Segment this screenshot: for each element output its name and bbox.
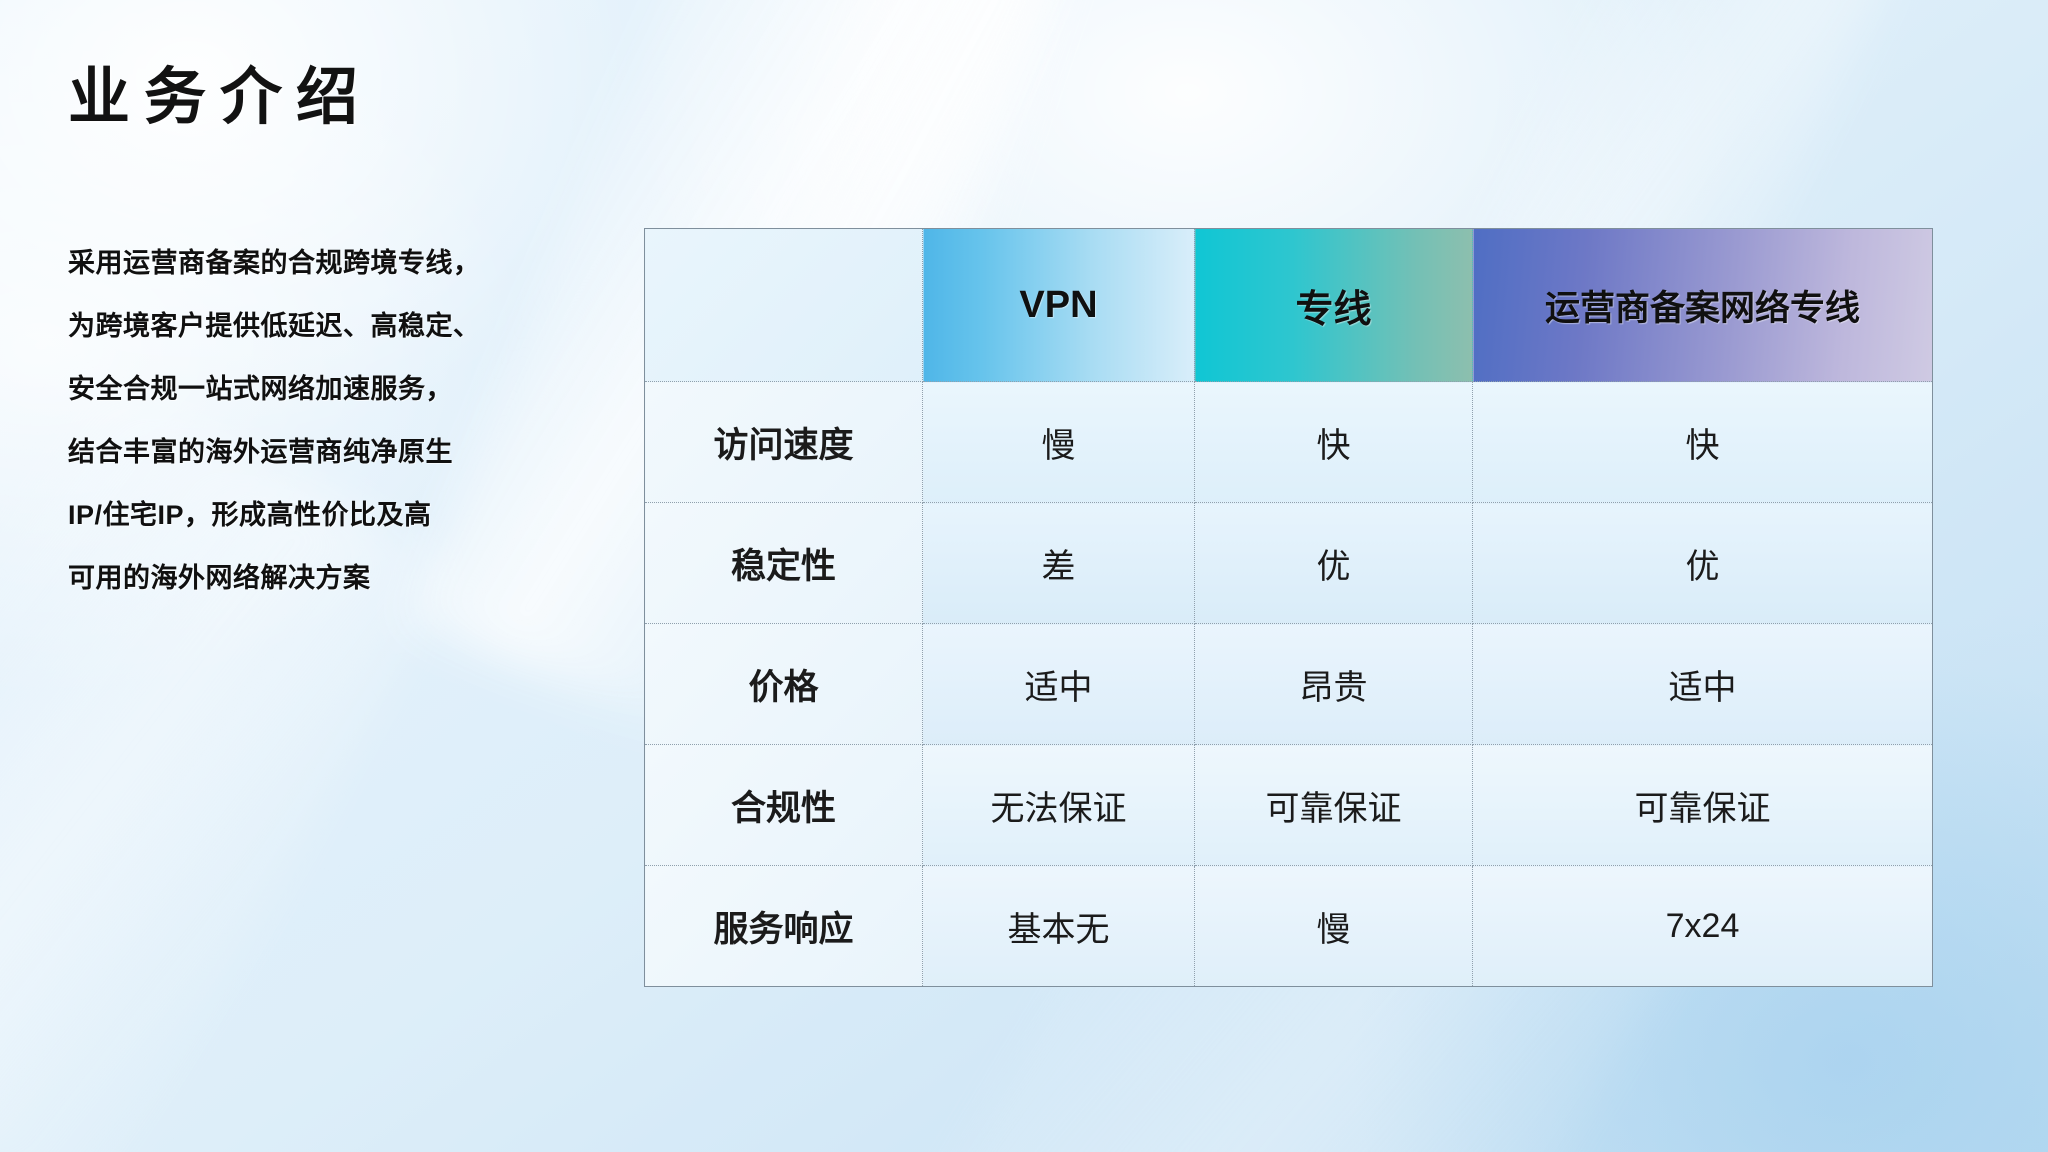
cell-dedicated-line: 昂贵 <box>1195 624 1473 745</box>
cell-vpn: 基本无 <box>923 866 1195 987</box>
intro-line: IP/住宅IP，形成高性价比及高 <box>68 484 628 547</box>
table-row: 价格 适中 昂贵 适中 <box>645 624 1933 745</box>
comparison-table: VPN 专线 运营商备案网络专线 访问速度 慢 快 快 稳定性 差 优 优 价格… <box>644 228 1933 987</box>
cell-dedicated-line: 优 <box>1195 503 1473 624</box>
row-label-service-response: 服务响应 <box>645 866 923 987</box>
table-header: VPN 专线 运营商备案网络专线 <box>645 229 1933 382</box>
column-header-operator-filed-line: 运营商备案网络专线 <box>1473 229 1933 382</box>
cell-operator-filed-line: 7x24 <box>1473 866 1933 987</box>
page-title: 业务介绍 <box>68 62 372 133</box>
cell-vpn: 无法保证 <box>923 745 1195 866</box>
intro-line: 结合丰富的海外运营商纯净原生 <box>68 421 628 484</box>
intro-line: 安全合规一站式网络加速服务， <box>68 358 628 421</box>
table-body: 访问速度 慢 快 快 稳定性 差 优 优 价格 适中 昂贵 适中 合规性 无法保… <box>645 382 1933 987</box>
cell-operator-filed-line: 快 <box>1473 382 1933 503</box>
cell-dedicated-line: 可靠保证 <box>1195 745 1473 866</box>
row-label-price: 价格 <box>645 624 923 745</box>
row-label-stability: 稳定性 <box>645 503 923 624</box>
slide-canvas: 业务介绍 采用运营商备案的合规跨境专线， 为跨境客户提供低延迟、高稳定、 安全合… <box>0 0 2048 1152</box>
row-label-compliance: 合规性 <box>645 745 923 866</box>
cell-vpn: 差 <box>923 503 1195 624</box>
table-row: 访问速度 慢 快 快 <box>645 382 1933 503</box>
row-label-access-speed: 访问速度 <box>645 382 923 503</box>
cell-dedicated-line: 慢 <box>1195 866 1473 987</box>
cell-vpn: 慢 <box>923 382 1195 503</box>
table-header-row: VPN 专线 运营商备案网络专线 <box>645 229 1933 382</box>
column-header-blank <box>645 229 923 382</box>
table-row: 稳定性 差 优 优 <box>645 503 1933 624</box>
intro-line: 为跨境客户提供低延迟、高稳定、 <box>68 295 628 358</box>
cell-vpn: 适中 <box>923 624 1195 745</box>
column-header-vpn: VPN <box>923 229 1195 382</box>
intro-line: 采用运营商备案的合规跨境专线， <box>68 232 628 295</box>
column-header-dedicated-line: 专线 <box>1195 229 1473 382</box>
cell-operator-filed-line: 优 <box>1473 503 1933 624</box>
cell-operator-filed-line: 可靠保证 <box>1473 745 1933 866</box>
table-row: 合规性 无法保证 可靠保证 可靠保证 <box>645 745 1933 866</box>
intro-paragraph: 采用运营商备案的合规跨境专线， 为跨境客户提供低延迟、高稳定、 安全合规一站式网… <box>68 232 628 610</box>
cell-dedicated-line: 快 <box>1195 382 1473 503</box>
intro-line: 可用的海外网络解决方案 <box>68 547 628 610</box>
cell-operator-filed-line: 适中 <box>1473 624 1933 745</box>
table-row: 服务响应 基本无 慢 7x24 <box>645 866 1933 987</box>
